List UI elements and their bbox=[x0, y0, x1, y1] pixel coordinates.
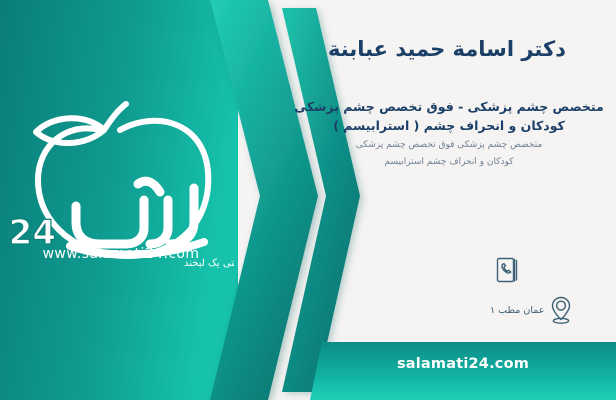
specialty-sub-line-1: متخصص چشم پزشکی فوق تخصص چشم پزشکی bbox=[288, 137, 610, 154]
specialty-sub: متخصص چشم پزشکی فوق تخصص چشم پزشکی کودکا… bbox=[288, 137, 610, 170]
footer-url[interactable]: salamati24.com bbox=[310, 356, 616, 372]
logo-url: www.salamati24.com bbox=[8, 246, 234, 262]
footer-bar: salamati24.com bbox=[310, 342, 616, 400]
specialty-main-line-1: متخصص چشم پزشکی - فوق تخصص چشم پزشکی bbox=[288, 97, 610, 116]
specialty-main: متخصص چشم پزشکی - فوق تخصص چشم پزشکی کود… bbox=[288, 97, 610, 136]
contact-location-label: عمان مطب ۱ bbox=[484, 305, 544, 316]
specialty-sub-line-2: کودکان و انحراف چشم استرابیسم bbox=[288, 154, 610, 171]
contact-row-location[interactable]: عمان مطب ۱ bbox=[484, 290, 604, 330]
contact-row-phone[interactable] bbox=[484, 250, 604, 290]
doctor-name: دكتر اسامة حميد عبابنة bbox=[292, 36, 602, 63]
specialty-main-line-2: کودکان و انحراف چشم ( استرابیسم ) bbox=[288, 116, 610, 135]
contact-block: عمان مطب ۱ bbox=[484, 250, 604, 330]
salamati24-logo: 24 براحتی یک لبخند www.salamati24.com bbox=[8, 96, 234, 272]
card-content: دكتر اسامة حميد عبابنة متخصص چشم پزشکی -… bbox=[276, 0, 616, 400]
business-card: 24 براحتی یک لبخند www.salamati24.com دك… bbox=[0, 0, 616, 400]
logo-wordmark bbox=[76, 181, 194, 244]
phonebook-icon[interactable] bbox=[490, 253, 524, 287]
location-pin-icon[interactable] bbox=[544, 293, 578, 327]
